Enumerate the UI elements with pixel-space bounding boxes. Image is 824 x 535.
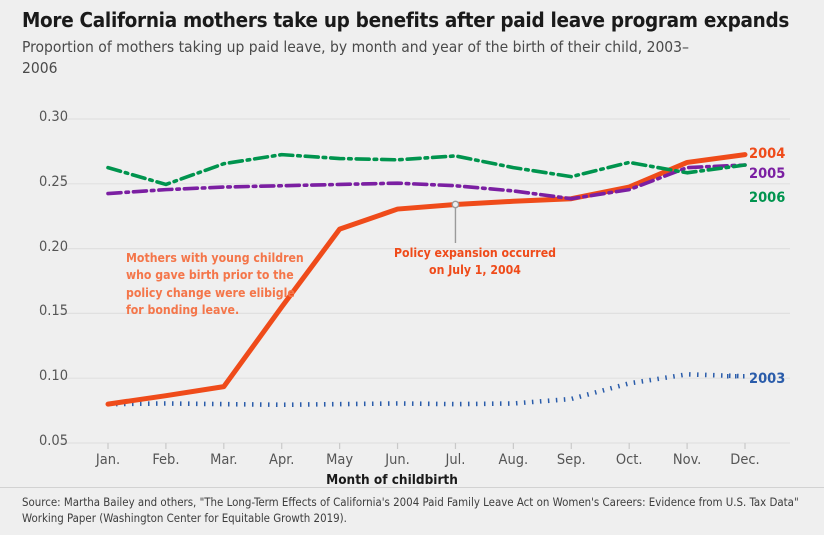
x-tick-label-jul: Jul. — [426, 452, 484, 468]
x-tick-label-dec: Dec. — [716, 452, 774, 468]
y-tick-label-4: 0.25 — [14, 174, 68, 190]
x-tick-label-apr: Apr. — [253, 452, 311, 468]
y-tick-label-5: 0.30 — [14, 109, 68, 125]
legend-item-2003[interactable]: 2003 — [749, 371, 785, 387]
y-tick-label-1: 0.10 — [14, 368, 68, 384]
x-tick-label-feb: Feb. — [137, 452, 195, 468]
series-line-2003 — [108, 374, 745, 404]
legend-item-2005[interactable]: 2005 — [749, 166, 785, 182]
source-note: Source: Martha Bailey and others, "The L… — [22, 494, 812, 526]
x-tick-label-aug: Aug. — [484, 452, 542, 468]
y-tick-label-2: 0.15 — [14, 303, 68, 319]
x-tick-label-mar: Mar. — [195, 452, 253, 468]
annotation-eligible: Mothers with young children who gave bir… — [126, 250, 316, 319]
x-tick-label-jun: Jun. — [369, 452, 427, 468]
x-tick-label-jan: Jan. — [79, 452, 137, 468]
chart-title: More California mothers take up benefits… — [22, 8, 812, 33]
y-tick-label-3: 0.20 — [14, 239, 68, 255]
y-tick-label-0: 0.05 — [14, 433, 68, 449]
x-tick-label-nov: Nov. — [658, 452, 716, 468]
x-axis-title: Month of childbirth — [0, 472, 824, 488]
legend-item-2004[interactable]: 2004 — [749, 146, 785, 162]
policy-marker-dot — [452, 201, 458, 207]
footer-divider — [0, 487, 824, 488]
x-tick-label-sep: Sep. — [542, 452, 600, 468]
legend-item-2006[interactable]: 2006 — [749, 190, 785, 206]
x-axis-title-text: Month of childbirth — [326, 472, 458, 488]
series-line-2006 — [108, 155, 745, 185]
x-tick-label-may: May — [311, 452, 369, 468]
annotation-policy: Policy expansion occurred on July 1, 200… — [385, 245, 565, 279]
series-line-2005 — [108, 165, 745, 199]
x-tick-label-oct: Oct. — [600, 452, 658, 468]
chart-subtitle: Proportion of mothers taking up paid lea… — [22, 37, 722, 79]
